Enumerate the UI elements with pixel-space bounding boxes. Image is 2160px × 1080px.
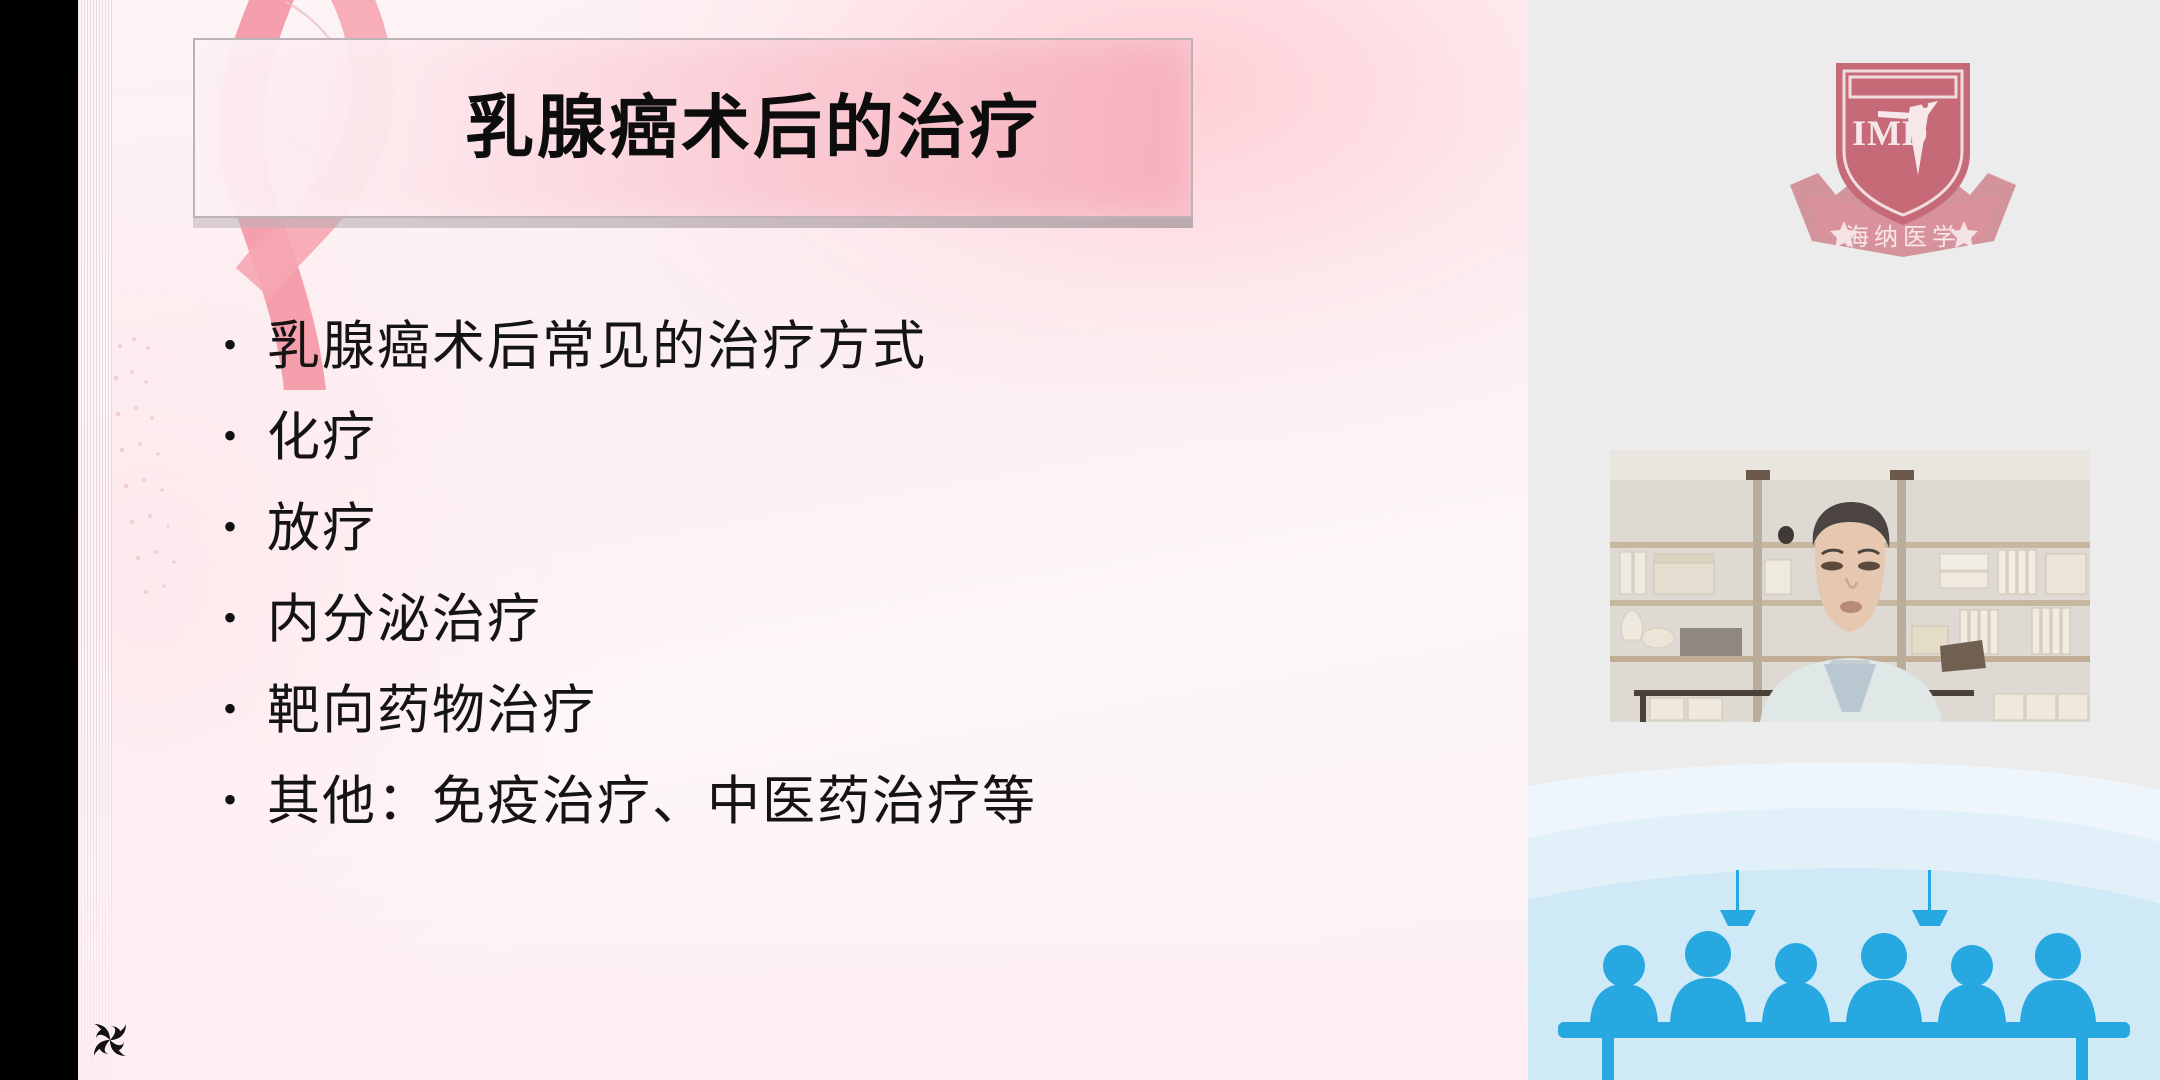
bullet-text: 乳腺癌术后常见的治疗方式	[267, 318, 927, 377]
presentation-slide: 乳腺癌术后的治疗 • 乳腺癌术后常见的治疗方式 • 化疗 • 放疗 • 内分泌治…	[78, 0, 1528, 1080]
webcam-image	[1610, 450, 2090, 722]
speaker-video-tile[interactable]	[1610, 450, 2090, 722]
list-item: • 放疗	[223, 500, 1303, 566]
bullet-text: 内分泌治疗	[267, 591, 542, 650]
bullet-marker-icon: •	[223, 325, 267, 365]
list-item: • 内分泌治疗	[223, 591, 1303, 657]
slide-title-banner: 乳腺癌术后的治疗	[193, 38, 1193, 218]
left-letterbox-bar	[0, 0, 78, 1080]
dotted-swoosh-decoration	[108, 330, 228, 610]
bullet-marker-icon: •	[223, 598, 267, 638]
bullet-text: 靶向药物治疗	[267, 682, 597, 741]
bullet-text: 化疗	[267, 409, 377, 468]
list-item: • 化疗	[223, 409, 1303, 475]
bullet-marker-icon: •	[223, 689, 267, 729]
bullet-marker-icon: •	[223, 416, 267, 456]
list-item: • 乳腺癌术后常见的治疗方式	[223, 318, 1303, 384]
list-item: • 其他：免疫治疗、中医药治疗等	[223, 773, 1303, 839]
screenshot-root: 乳腺癌术后的治疗 • 乳腺癌术后常见的治疗方式 • 化疗 • 放疗 • 内分泌治…	[0, 0, 2160, 1080]
right-sidebar-panel: IMD 海纳医学	[1528, 0, 2160, 1080]
brand-monogram-text: IMD	[1852, 113, 1929, 153]
slide-title: 乳腺癌术后的治疗	[345, 94, 1041, 163]
pinwheel-logo-icon	[88, 1018, 132, 1062]
slide-bullet-list: • 乳腺癌术后常见的治疗方式 • 化疗 • 放疗 • 内分泌治疗 • 靶向药物治…	[223, 318, 1303, 864]
list-item: • 靶向药物治疗	[223, 682, 1303, 748]
imd-shield-logo-icon: IMD 海纳医学	[1778, 45, 2028, 260]
bullet-text: 放疗	[267, 500, 377, 559]
bullet-marker-icon: •	[223, 507, 267, 547]
brand-banner-text: 海纳医学	[1845, 223, 1961, 251]
bullet-marker-icon: •	[223, 780, 267, 820]
meeting-silhouette-illustration	[1528, 750, 2160, 1080]
bullet-text: 其他：免疫治疗、中医药治疗等	[267, 773, 1037, 832]
